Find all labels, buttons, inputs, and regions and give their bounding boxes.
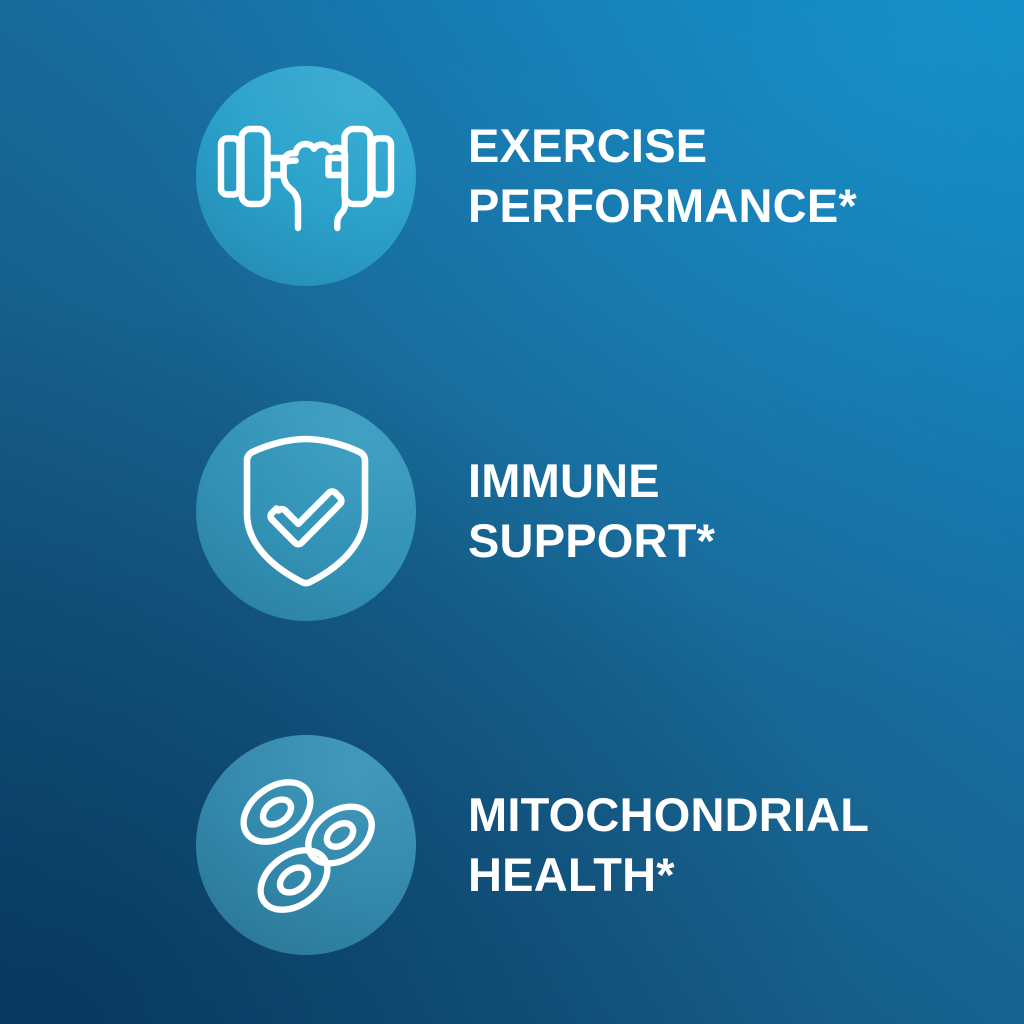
feature-row-mitochondrial-health: MITOCHONDRIAL HEALTH* [0,735,1024,955]
shield-check-icon [243,435,369,587]
feature-label-exercise-performance: EXERCISE PERFORMANCE* [468,116,857,235]
feature-row-immune-support: IMMUNE SUPPORT* [0,401,1024,621]
feature-label-mitochondrial-health: MITOCHONDRIAL HEALTH* [468,785,869,904]
dumbbell-hand-icon [217,116,395,236]
mitochondria-cells-icon [230,769,382,921]
icon-badge-exercise-performance [196,66,416,286]
benefits-graphic: EXERCISE PERFORMANCE* IMMUNE SUPPORT* [0,0,1024,1024]
icon-badge-mitochondrial-health [196,735,416,955]
feature-row-exercise-performance: EXERCISE PERFORMANCE* [0,66,1024,286]
feature-label-immune-support: IMMUNE SUPPORT* [468,451,715,570]
icon-badge-immune-support [196,401,416,621]
